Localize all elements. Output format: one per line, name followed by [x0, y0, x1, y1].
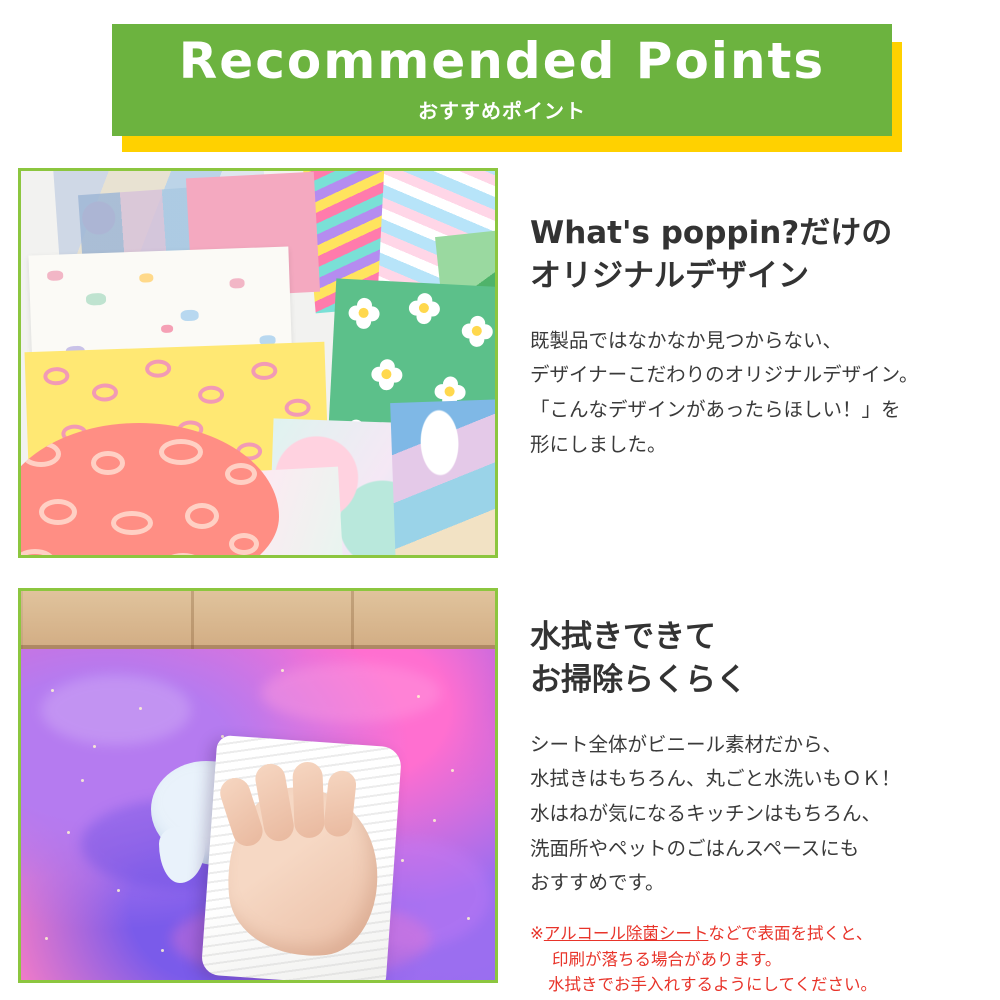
body-line-3: 水はねが気になるキッチンはもちろん、: [530, 797, 970, 832]
note-line-3: 水拭きでお手入れするようにしてください。: [530, 972, 970, 998]
caution-note: ※アルコール除菌シートなどで表面を拭くと、 印刷が落ちる場合があります。 水拭き…: [530, 921, 970, 998]
section-original-design: What's poppin?だけの オリジナルデザイン 既製品ではなかなか見つか…: [18, 168, 970, 558]
heading-line-1: 水拭きできて: [530, 616, 970, 659]
body-line-5: おすすめです。: [530, 866, 970, 901]
body-line-4: 洗面所やペットのごはんスペースにも: [530, 832, 970, 867]
floor-seam: [351, 591, 354, 649]
banner-green-panel: Recommended Points おすすめポイント: [112, 24, 892, 136]
body-line-1: シート全体がビニール素材だから、: [530, 728, 970, 763]
wooden-floor: [21, 591, 495, 649]
body-line-1: 既製品ではなかなか見つからない、: [530, 324, 970, 359]
heading-line-1: What's poppin?だけの: [530, 212, 970, 255]
photo-wiping-mat: [18, 588, 498, 983]
body-line-4: 形にしました。: [530, 428, 970, 463]
heading-line-2: オリジナルデザイン: [530, 255, 970, 298]
floor-seam: [191, 591, 194, 649]
body-line-3: 「こんなデザインがあったらほしい！」を: [530, 393, 970, 428]
finger: [323, 769, 358, 838]
note-asterisk: ※: [530, 924, 544, 943]
note-line-1: ※アルコール除菌シートなどで表面を拭くと、: [530, 921, 970, 947]
heading-line-2: お掃除らくらく: [530, 659, 970, 702]
page-title: Recommended Points: [179, 36, 825, 86]
header-banner: Recommended Points おすすめポイント: [112, 24, 902, 152]
note-underlined-term: アルコール除菌シート: [544, 924, 709, 943]
finger: [292, 761, 325, 838]
body-line-2: デザイナーこだわりのオリジナルデザイン。: [530, 358, 970, 393]
note-line-1-rest: などで表面を拭くと、: [708, 924, 872, 943]
sheet-marble-blue: [390, 399, 498, 558]
section-easy-cleaning: 水拭きできて お掃除らくらく シート全体がビニール素材だから、 水拭きはもちろん…: [18, 588, 970, 998]
text-easy-cleaning: 水拭きできて お掃除らくらく シート全体がビニール素材だから、 水拭きはもちろん…: [530, 588, 970, 998]
body-original-design: 既製品ではなかなか見つからない、 デザイナーこだわりのオリジナルデザイン。 「こ…: [530, 324, 970, 463]
heading-easy-cleaning: 水拭きできて お掃除らくらく: [530, 616, 970, 702]
text-original-design: What's poppin?だけの オリジナルデザイン 既製品ではなかなか見つか…: [530, 168, 970, 558]
heading-original-design: What's poppin?だけの オリジナルデザイン: [530, 212, 970, 298]
photo-original-design-collage: [18, 168, 498, 558]
body-easy-cleaning: シート全体がビニール素材だから、 水拭きはもちろん、丸ごと水洗いもＯＫ！ 水はね…: [530, 728, 970, 902]
page-root: Recommended Points おすすめポイント: [0, 0, 1000, 1000]
page-subtitle: おすすめポイント: [418, 95, 586, 124]
note-line-2: 印刷が落ちる場合があります。: [530, 947, 970, 973]
body-line-2: 水拭きはもちろん、丸ごと水洗いもＯＫ！: [530, 762, 970, 797]
